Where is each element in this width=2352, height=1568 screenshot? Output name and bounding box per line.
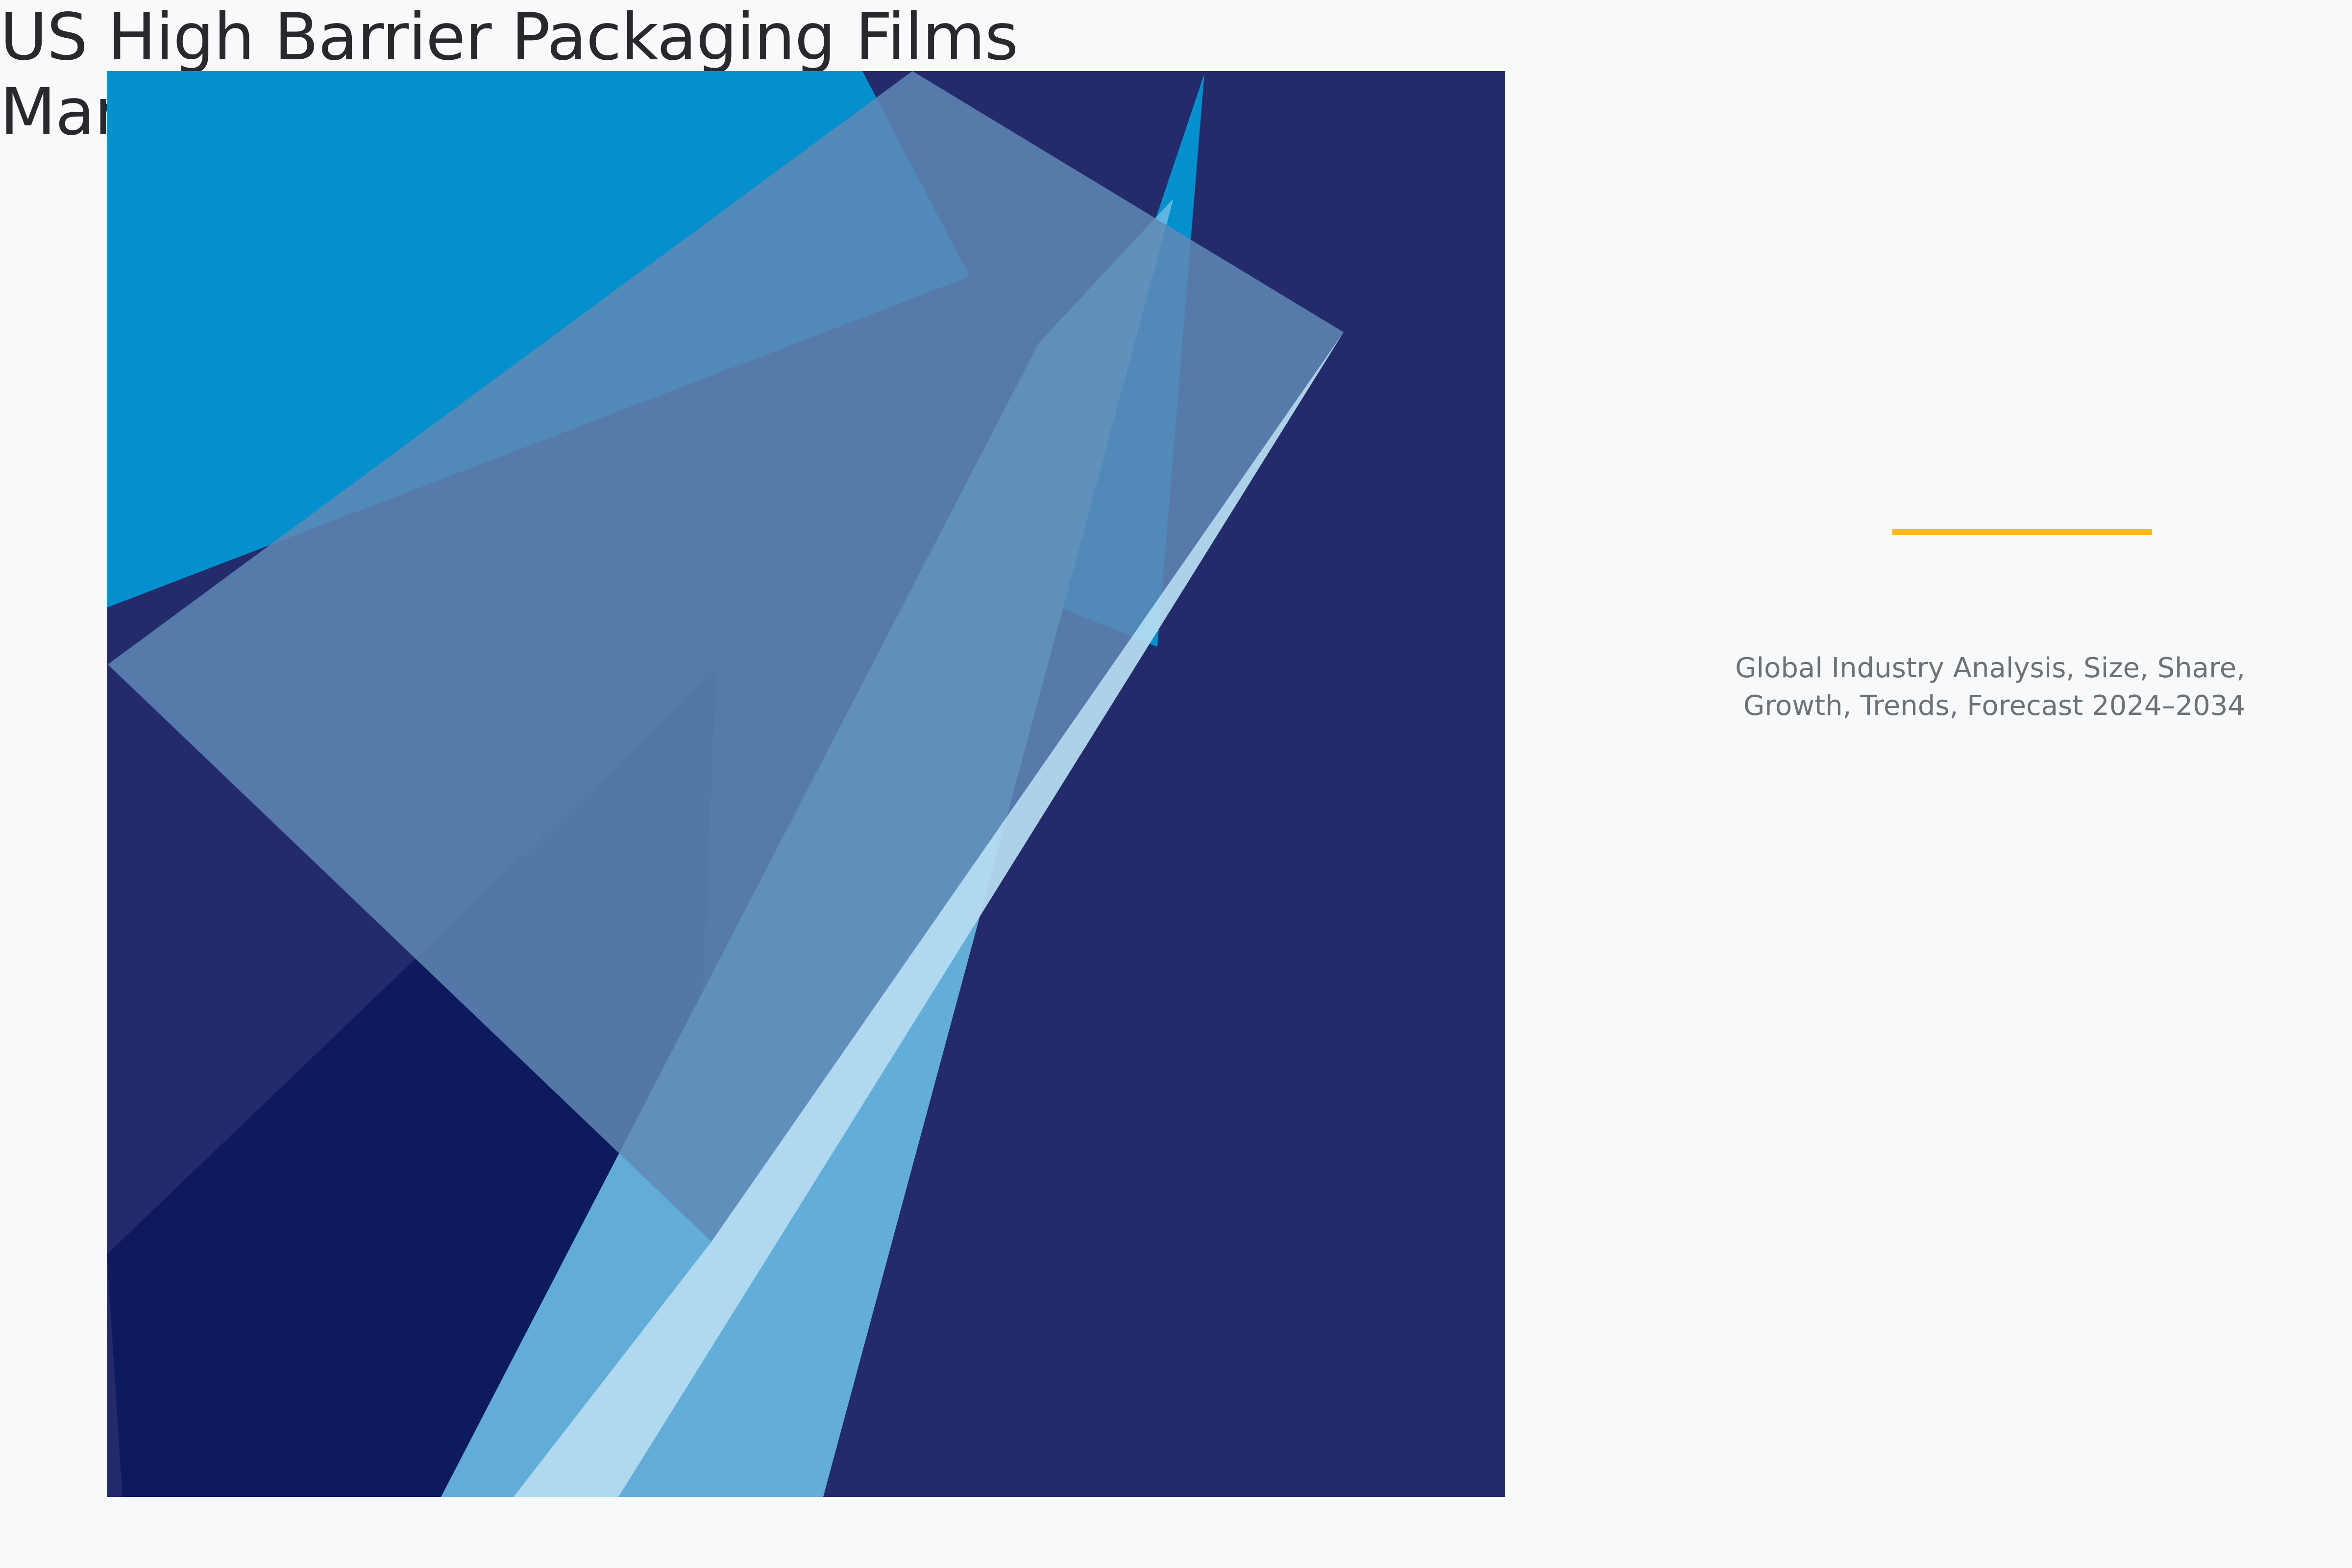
page-subtitle: Global Industry Analysis, Size, Share, G… bbox=[1412, 649, 2245, 725]
title-accent-underline bbox=[1892, 529, 2152, 535]
cover-page: US High Barrier Packaging Films Market (… bbox=[0, 0, 2352, 1568]
abstract-geometric-cover-graphic bbox=[0, 0, 2352, 1568]
